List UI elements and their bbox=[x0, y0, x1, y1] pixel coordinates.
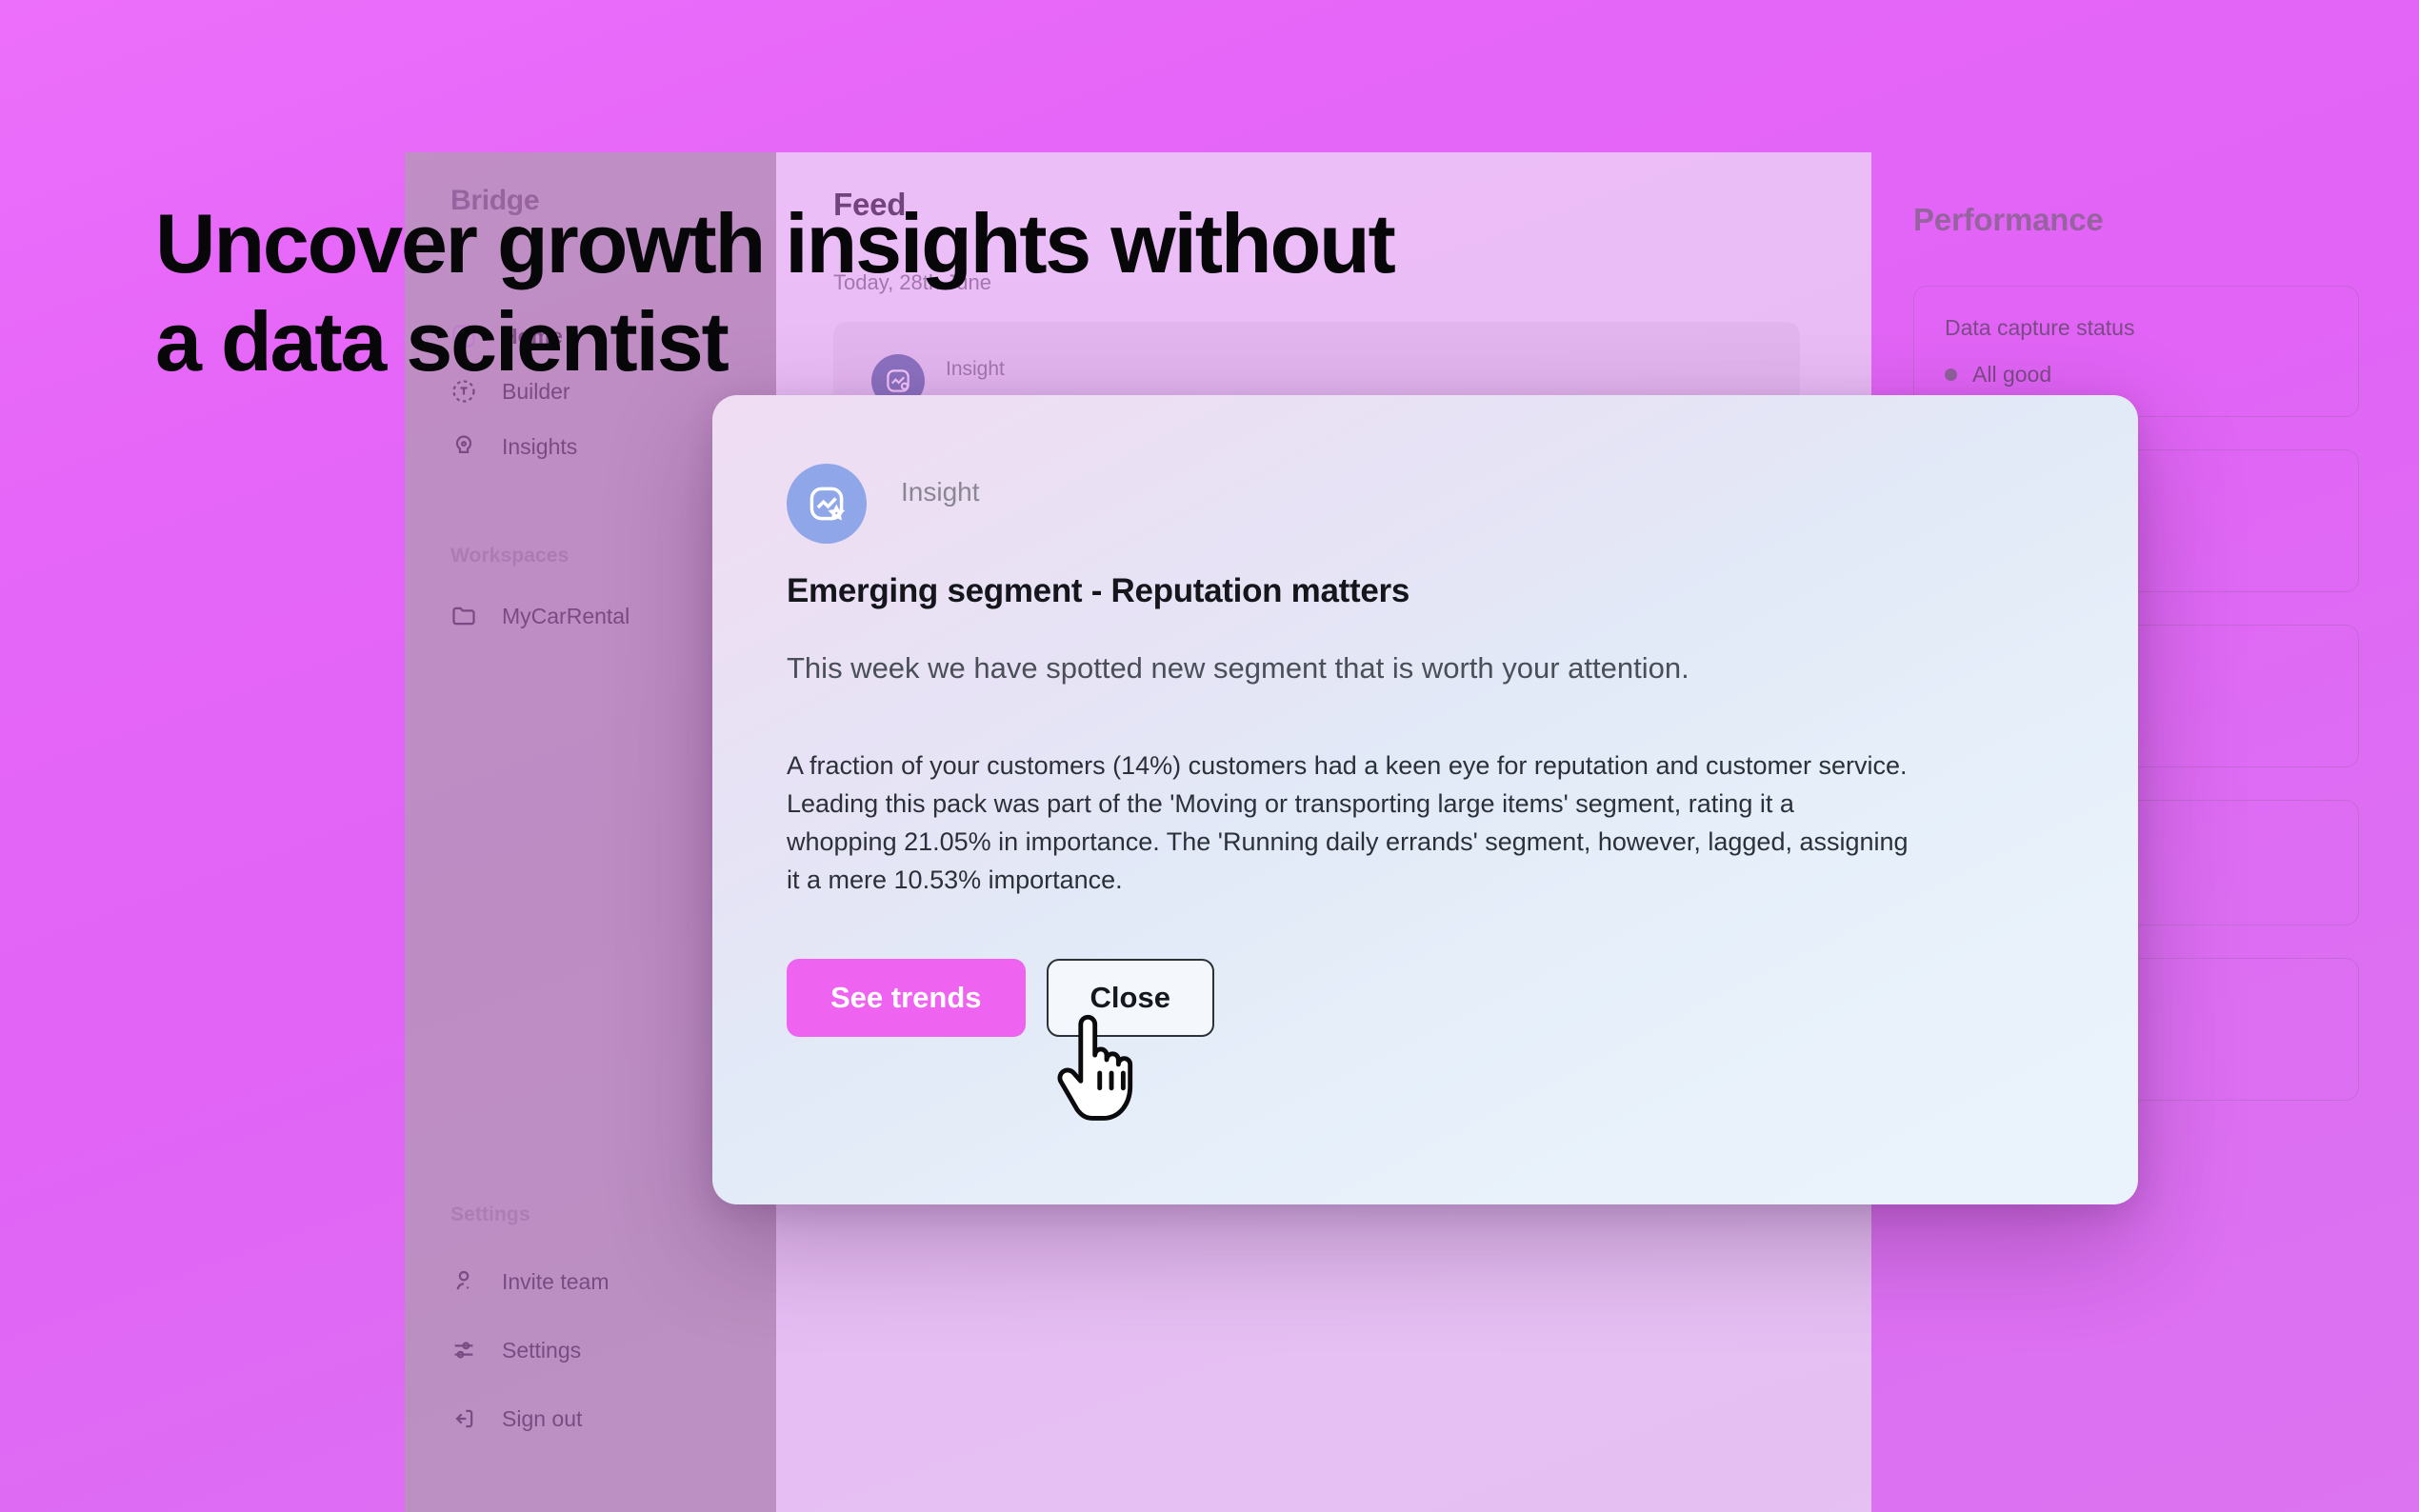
sidebar-item-sign-out[interactable]: Sign out bbox=[405, 1384, 776, 1453]
sidebar-settings-group: Settings Invite team bbox=[405, 1204, 776, 1512]
see-trends-button[interactable]: See trends bbox=[787, 959, 1026, 1037]
modal-title: Emerging segment - Reputation matters bbox=[787, 572, 2064, 610]
modal-actions: See trends Close bbox=[787, 959, 2064, 1037]
sidebar-item-label: MyCarRental bbox=[502, 604, 630, 629]
insight-modal: Insight Emerging segment - Reputation ma… bbox=[712, 395, 2138, 1204]
sliders-icon bbox=[450, 1337, 477, 1363]
sidebar-item-settings[interactable]: Settings bbox=[405, 1316, 776, 1384]
modal-lede: This week we have spotted new segment th… bbox=[787, 645, 1806, 692]
close-button[interactable]: Close bbox=[1047, 959, 1214, 1037]
sidebar-item-label: Insights bbox=[502, 434, 577, 460]
settings-label: Settings bbox=[405, 1204, 776, 1226]
sign-out-icon bbox=[450, 1405, 477, 1432]
insight-icon bbox=[787, 464, 867, 544]
status-badge: All good bbox=[1945, 362, 2328, 388]
sidebar-item-label: Invite team bbox=[502, 1269, 610, 1295]
modal-kicker: Insight bbox=[901, 464, 980, 507]
status-text: All good bbox=[1972, 362, 2051, 388]
modal-detail: A fraction of your customers (14%) custo… bbox=[787, 747, 1910, 900]
sidebar-item-label: Sign out bbox=[502, 1406, 582, 1432]
status-dot-icon bbox=[1945, 368, 1957, 381]
insights-bulb-icon bbox=[450, 433, 477, 460]
sidebar-item-label: Settings bbox=[502, 1338, 581, 1363]
invite-team-icon bbox=[450, 1268, 477, 1295]
page-title: Uncover growth insights without a data s… bbox=[155, 195, 1641, 391]
performance-title: Performance bbox=[1913, 202, 2359, 238]
data-capture-status-label: Data capture status bbox=[1945, 315, 2328, 341]
folder-icon bbox=[450, 603, 477, 629]
sidebar-item-invite-team[interactable]: Invite team bbox=[405, 1247, 776, 1316]
promo-stage: Bridge Home bbox=[0, 0, 2419, 1512]
